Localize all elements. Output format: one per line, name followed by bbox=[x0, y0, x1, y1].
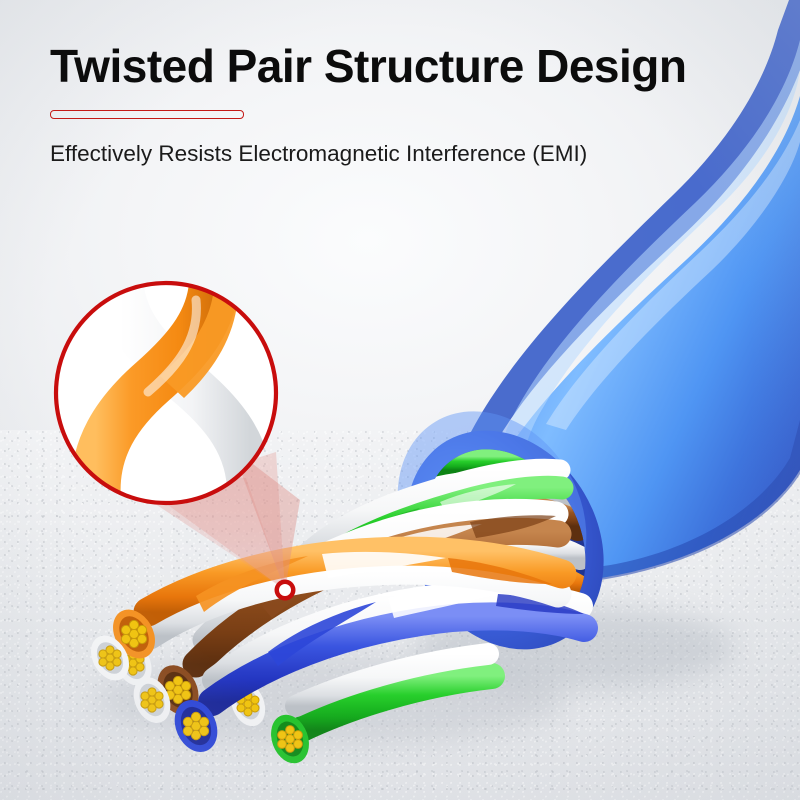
callout-target-marker bbox=[275, 580, 296, 601]
page-title: Twisted Pair Structure Design bbox=[50, 42, 750, 90]
stranded-copper-conductor bbox=[99, 646, 121, 670]
stranded-copper-conductor bbox=[141, 688, 163, 712]
magnifier-callout bbox=[56, 268, 300, 596]
page-subtitle: Effectively Resists Electromagnetic Inte… bbox=[50, 141, 750, 167]
header-block: Twisted Pair Structure Design Effectivel… bbox=[50, 42, 750, 167]
product-marketing-image: Twisted Pair Structure Design Effectivel… bbox=[0, 0, 800, 800]
title-divider bbox=[50, 110, 244, 119]
